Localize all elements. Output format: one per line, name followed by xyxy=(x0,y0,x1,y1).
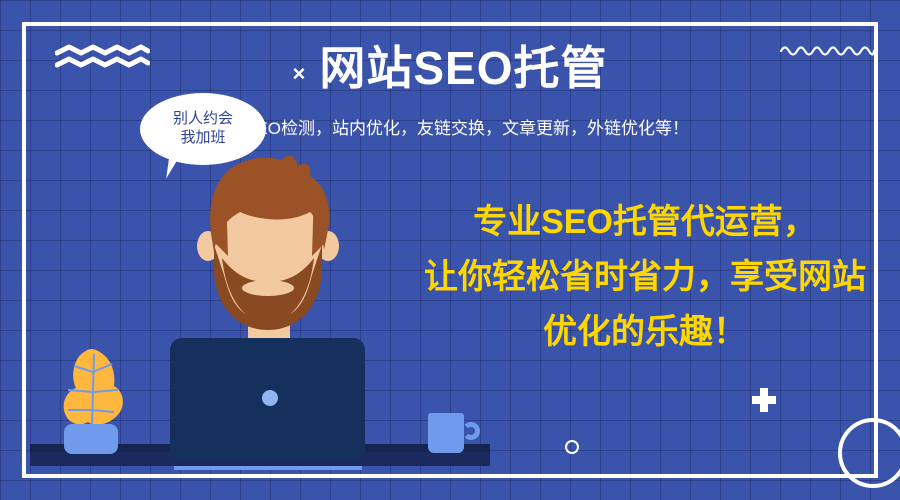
speech-bubble-line-1: 别人约会 xyxy=(173,110,233,129)
mouth xyxy=(242,280,294,296)
coffee-mug-handle xyxy=(462,422,480,440)
laptop-logo-icon xyxy=(262,390,278,406)
speech-bubble-line-2: 我加班 xyxy=(180,129,225,148)
coffee-mug xyxy=(428,413,464,453)
speech-bubble: 别人约会 我加班 xyxy=(140,93,266,165)
seo-hosting-banner: × 网站SEO托管 含：SEO检测，站内优化，友链交换，文章更新，外链优化等！ … xyxy=(0,0,900,500)
laptop xyxy=(170,338,365,460)
plant-leaf-icon xyxy=(60,348,130,434)
plant-pot xyxy=(64,424,118,454)
